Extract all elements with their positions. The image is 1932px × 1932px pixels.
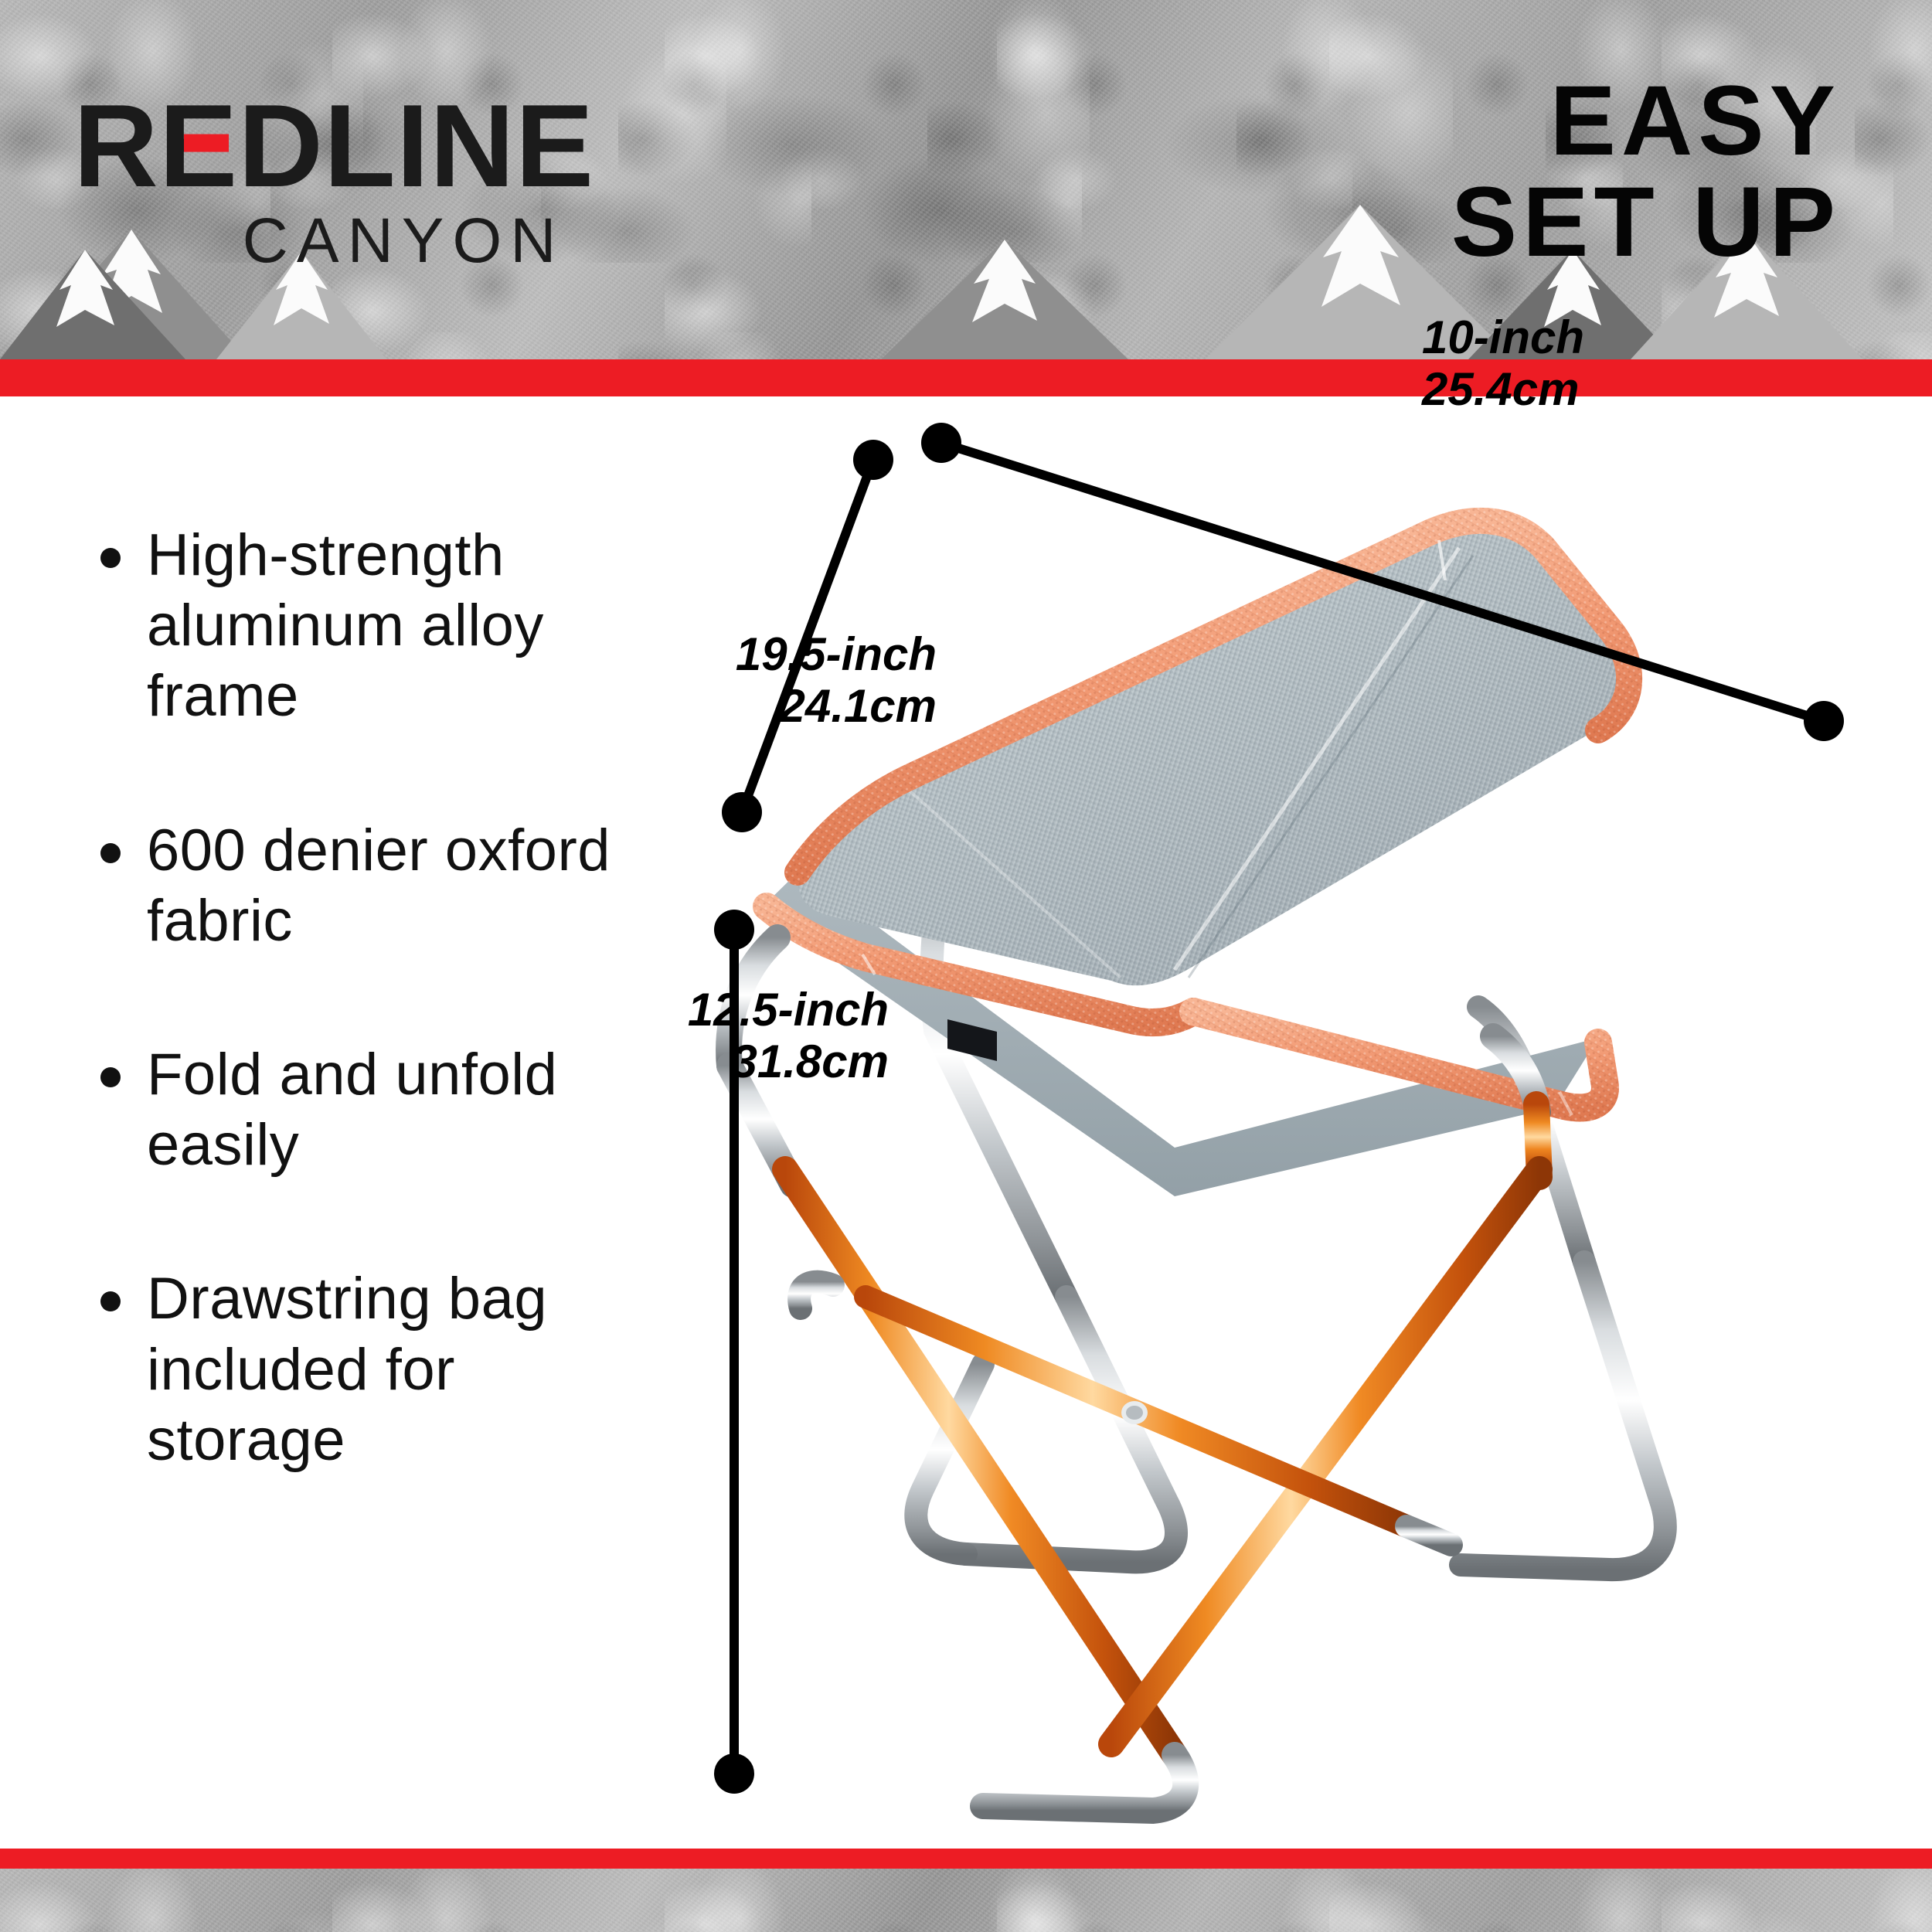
concrete-texture-footer [0,1869,1932,1932]
red-divider-bar-bottom [0,1849,1932,1869]
feature-text: 600 denier oxford fabric [147,815,657,956]
headline-line-2: SET UP [1451,172,1841,274]
footer-banner [0,1869,1932,1932]
logo-red-accent-bar [184,134,229,152]
dimension-endpoint-dot [714,910,754,950]
list-item: High-strength aluminum alloy frame [100,520,657,732]
feature-text: Drawstring bag included for storage [147,1264,657,1475]
logo-letters-dline: DLINE [238,91,594,202]
dimension-callouts [634,396,1932,1849]
list-item: 600 denier oxford fabric [100,815,657,956]
bullet-dot-icon [100,1291,121,1311]
dimension-endpoint-dot [1804,701,1844,741]
header-banner: R E DLINE CANYON EASY SET UP [0,0,1932,359]
bullet-dot-icon [100,843,121,863]
bullet-dot-icon [100,1067,121,1087]
headline: EASY SET UP [1451,71,1841,273]
logo-letter-r: R [73,91,159,202]
dimension-endpoint-dot [853,440,893,480]
bullet-dot-icon [100,548,121,568]
dimension-endpoint-dot [921,423,961,463]
dimension-label-height: 12.5-inch 31.8cm [518,984,889,1087]
list-item: Drawstring bag included for storage [100,1264,657,1475]
main-content: High-strength aluminum alloy frame 600 d… [0,396,1932,1849]
infographic-page: R E DLINE CANYON EASY SET UP High-streng… [0,0,1932,1932]
dimension-endpoint-dot [722,792,762,832]
dimension-label-width: 10-inch 25.4cm [1422,311,1754,415]
brand-logo: R E DLINE CANYON [73,91,594,277]
headline-line-1: EASY [1451,71,1841,172]
feature-text: High-strength aluminum alloy frame [147,520,657,732]
logo-letter-e-with-accent: E [159,91,238,202]
brand-logo-wordmark: R E DLINE [73,91,594,202]
brand-logo-subtitle: CANYON [73,205,594,277]
dimension-label-depth: 19.5-inch 24.1cm [628,628,937,732]
dimension-endpoint-dot [714,1753,754,1794]
product-image-area: 19.5-inch 24.1cm 10-inch 25.4cm 12.5-inc… [634,396,1932,1849]
